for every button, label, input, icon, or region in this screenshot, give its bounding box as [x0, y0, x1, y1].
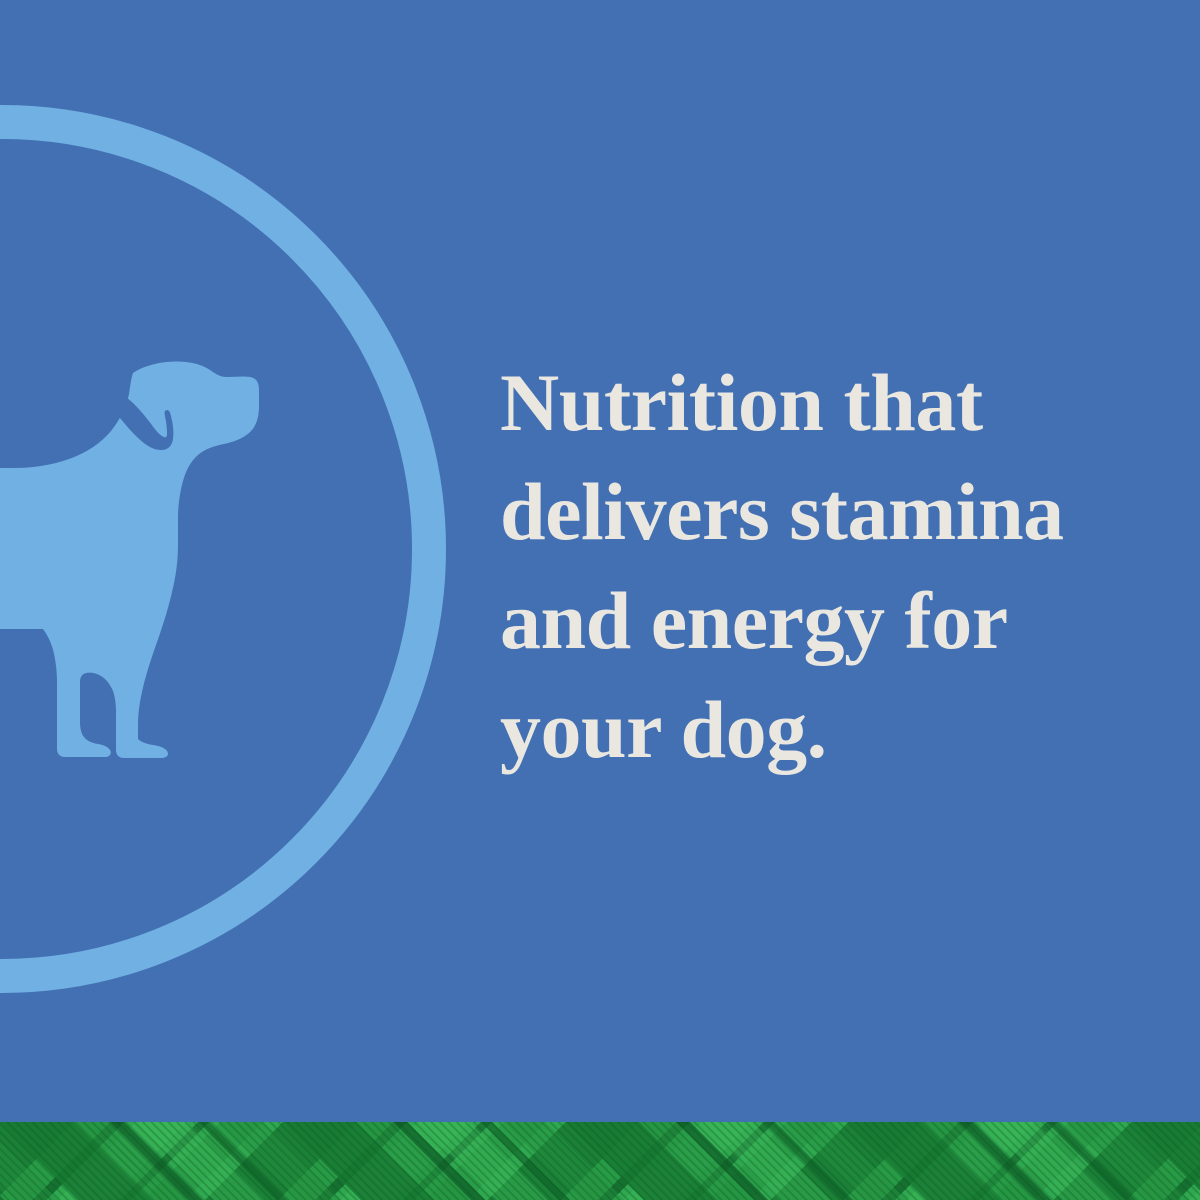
promo-poster: Nutrition that delivers stamina and ener…	[0, 0, 1200, 1200]
tartan-plaid-pattern	[0, 1122, 1200, 1200]
headline-line-2: delivers stamina	[500, 457, 1140, 566]
plaid-footer-band	[0, 1122, 1200, 1200]
headline-line-3: and energy for	[500, 566, 1140, 675]
headline-line-4: your dog.	[500, 675, 1140, 784]
headline-block: Nutrition that delivers stamina and ener…	[500, 348, 1140, 784]
headline-line-1: Nutrition that	[500, 348, 1140, 457]
